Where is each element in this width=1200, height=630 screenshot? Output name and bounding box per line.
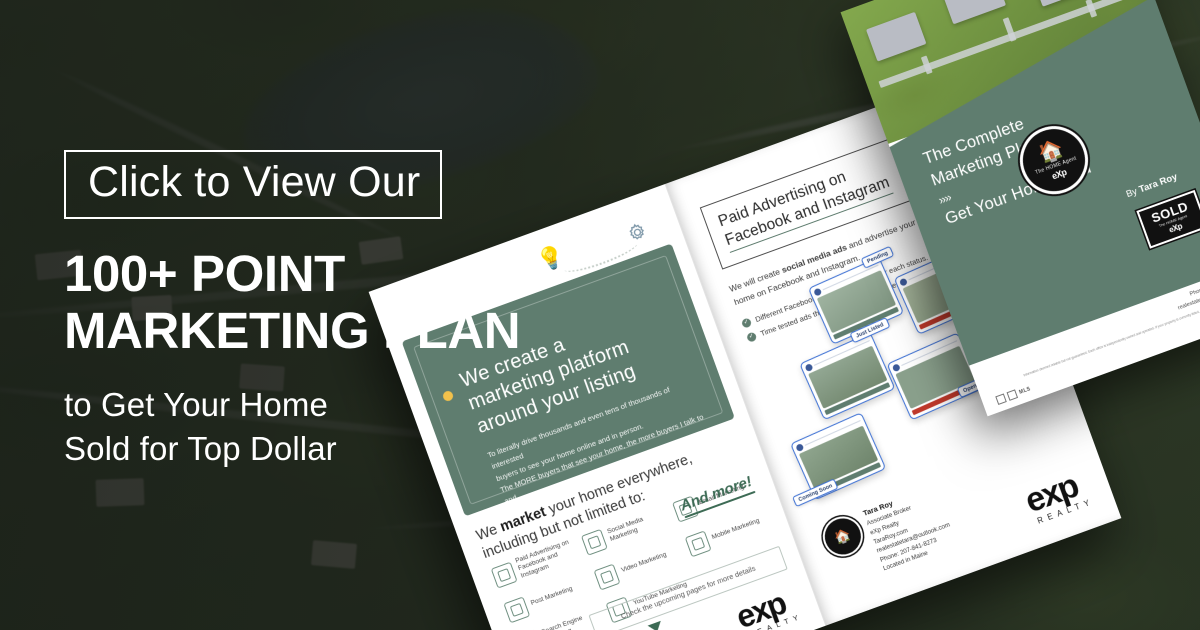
exp-realty-logo: exp REALTY	[1022, 468, 1095, 526]
cta-label: Click to View Our	[88, 161, 420, 204]
channel-label: Mobile Marketing	[711, 517, 761, 542]
rooftop	[941, 0, 1006, 24]
compliance-marks: MLS	[995, 384, 1032, 405]
hero-copy: Click to View Our 100+ POINT MARKETING P…	[64, 150, 584, 470]
realtor-icon	[1007, 389, 1019, 401]
subhead-line-2: Sold for Top Dollar	[64, 427, 584, 471]
subhead-line-1: to Get Your Home	[64, 383, 584, 427]
paid-advertising-icon	[491, 562, 518, 589]
channel-label: Video Marketing	[620, 551, 667, 575]
rooftop	[1031, 0, 1089, 7]
triangle-arrow-icon	[647, 621, 663, 630]
headline-line-2: MARKETING PLAN	[64, 302, 584, 359]
ad-card	[790, 412, 886, 500]
mobile-icon	[684, 530, 711, 557]
social-media-icon	[581, 529, 608, 556]
exp-realty-logo: exp REALTY	[733, 585, 804, 630]
hero-banner: Click to View Our 100+ POINT MARKETING P…	[0, 0, 1200, 630]
rooftop	[866, 12, 926, 62]
video-icon	[594, 563, 621, 590]
equal-housing-icon	[995, 393, 1007, 405]
channel-label: Post Marketing	[530, 585, 574, 608]
post-icon	[503, 596, 530, 623]
ad-card	[799, 332, 895, 420]
mls-label: MLS	[1018, 386, 1031, 396]
page-subtitle: to Get Your Home Sold for Top Dollar	[64, 383, 584, 470]
headline-line-1: 100+ POINT	[64, 245, 345, 302]
page-title: 100+ POINT MARKETING PLAN	[64, 245, 584, 359]
cta-button[interactable]: Click to View Our	[64, 150, 442, 219]
